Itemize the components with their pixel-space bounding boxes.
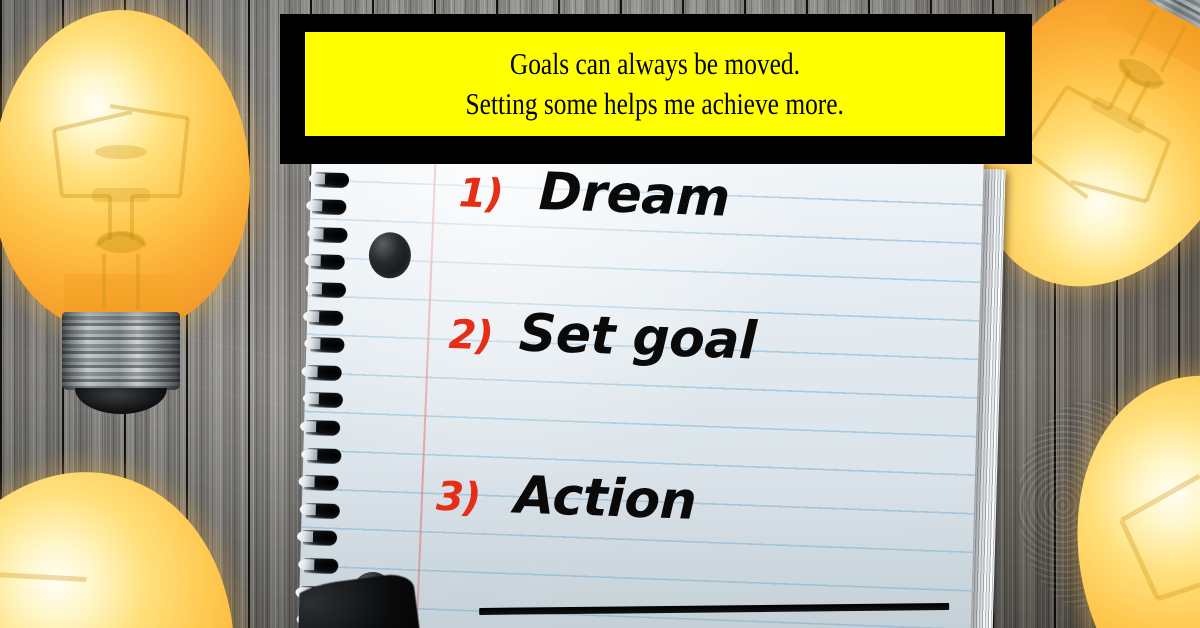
bulb-filament	[0, 10, 250, 330]
list-item-number: 3)	[435, 474, 481, 522]
caption-line-1: Goals can always be moved.	[510, 44, 800, 84]
caption-box: Goals can always be moved. Setting some …	[305, 32, 1005, 136]
notepad: 1) Dream 2) Set goal 3) Action	[298, 142, 1012, 628]
list-item-number: 2)	[448, 312, 494, 360]
lightbulb-icon-top-left	[0, 10, 250, 410]
list-item[interactable]: 3) Action	[435, 463, 697, 532]
bulb-screw-base	[62, 312, 180, 390]
list-item-label: Set goal	[518, 303, 757, 371]
list-item-number: 1)	[458, 170, 504, 218]
goal-list: 1) Dream 2) Set goal 3) Action	[298, 142, 984, 628]
list-item-label: Dream	[538, 162, 731, 229]
caption-frame: Goals can always be moved. Setting some …	[280, 14, 1032, 164]
list-item[interactable]: 1) Dream	[458, 159, 731, 228]
caption-line-2: Setting some helps me achieve more.	[466, 84, 844, 124]
notepad-sheet: 1) Dream 2) Set goal 3) Action	[298, 142, 984, 628]
list-item-label: Action	[513, 466, 697, 532]
slide-canvas: 1) Dream 2) Set goal 3) Action Goals can	[0, 0, 1200, 628]
bulb-glass	[0, 10, 250, 330]
list-item[interactable]: 2) Set goal	[448, 301, 758, 372]
